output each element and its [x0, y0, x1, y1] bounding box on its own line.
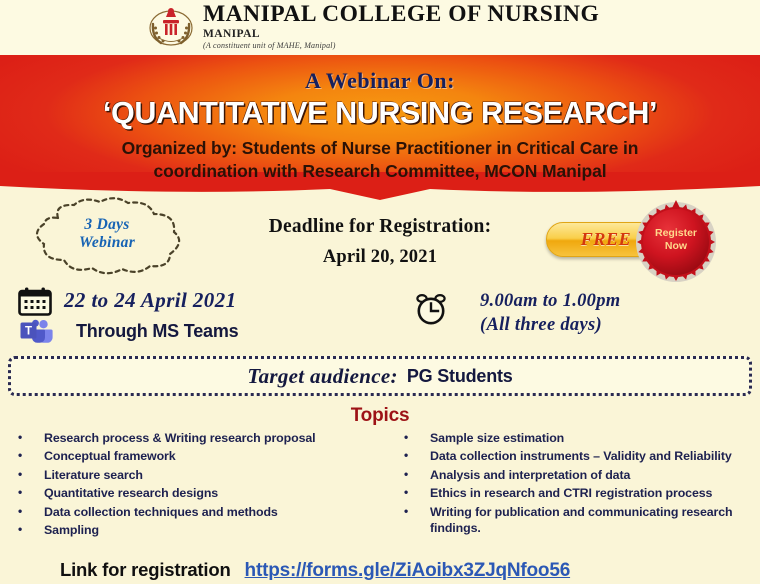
topics-column-left: • Research process & Writing research pr…	[0, 430, 392, 540]
registration-link-label: Link for registration	[60, 559, 231, 581]
registration-link-row: Link for registration https://forms.gle/…	[60, 559, 570, 582]
svg-text:T: T	[25, 325, 32, 337]
topic-label: Quantitative research designs	[44, 485, 392, 501]
webinar-title: ‘QUANTITATIVE NURSING RESEARCH’	[0, 96, 760, 131]
bullet-icon: •	[18, 467, 44, 483]
organized-by-line-2: coordination with Research Committee, MC…	[0, 160, 760, 183]
bullet-icon: •	[404, 448, 430, 464]
deadline-block: Deadline for Registration: April 20, 202…	[230, 216, 530, 268]
list-item: • Literature search	[18, 467, 392, 483]
list-item: • Quantitative research designs	[18, 485, 392, 501]
topics-heading: Topics	[0, 405, 760, 427]
poster-header: MANIPAL COLLEGE OF NURSING MANIPAL (A co…	[0, 0, 760, 55]
ms-teams-icon: T	[20, 319, 53, 343]
topic-label: Data collection instruments – Validity a…	[430, 448, 760, 464]
banner-eyebrow: A Webinar On:	[0, 68, 760, 94]
target-audience-label: Target audience:	[247, 364, 397, 389]
topic-label: Analysis and interpretation of data	[430, 467, 760, 483]
mcon-crest-logo-icon	[148, 4, 194, 48]
college-affiliation: (A constituent unit of MAHE, Manipal)	[203, 41, 599, 50]
webinar-time: 9.00am to 1.00pm (All three days)	[480, 289, 620, 337]
organized-by-line-1: Organized by: Students of Nurse Practiti…	[0, 137, 760, 160]
topic-label: Writing for publication and communicatin…	[430, 504, 760, 537]
webinar-time-note: (All three days)	[480, 313, 620, 337]
webinar-time-range: 9.00am to 1.00pm	[480, 289, 620, 313]
college-name: MANIPAL COLLEGE OF NURSING	[203, 3, 599, 27]
topic-label: Ethics in research and CTRI registration…	[430, 485, 760, 501]
list-item: • Data collection techniques and methods	[18, 504, 392, 520]
list-item: • Conceptual framework	[18, 448, 392, 464]
title-banner: A Webinar On: ‘QUANTITATIVE NURSING RESE…	[0, 55, 760, 200]
cloud-badge-text: 3 Days Webinar	[18, 216, 196, 253]
bullet-icon: •	[404, 504, 430, 520]
list-item: • Sample size estimation	[404, 430, 760, 446]
cloud-line-2: Webinar	[18, 234, 196, 252]
webinar-poster: MANIPAL COLLEGE OF NURSING MANIPAL (A co…	[0, 0, 760, 584]
topic-label: Research process & Writing research prop…	[44, 430, 392, 446]
webinar-dates: 22 to 24 April 2021	[64, 288, 237, 313]
banner-content: A Webinar On: ‘QUANTITATIVE NURSING RESE…	[0, 55, 760, 183]
bullet-icon: •	[18, 430, 44, 446]
list-item: • Writing for publication and communicat…	[404, 504, 760, 537]
bullet-icon: •	[18, 504, 44, 520]
topic-label: Sample size estimation	[430, 430, 760, 446]
topic-label: Conceptual framework	[44, 448, 392, 464]
list-item: • Analysis and interpretation of data	[404, 467, 760, 483]
calendar-icon	[18, 287, 52, 316]
deadline-label: Deadline for Registration:	[230, 216, 530, 238]
webinar-platform: Through MS Teams	[76, 321, 238, 342]
bullet-icon: •	[404, 430, 430, 446]
institution-block: MANIPAL COLLEGE OF NURSING MANIPAL (A co…	[203, 3, 599, 50]
topics-column-right: • Sample size estimation • Data collecti…	[392, 430, 760, 540]
deadline-date: April 20, 2021	[230, 247, 530, 268]
list-item: • Ethics in research and CTRI registrati…	[404, 485, 760, 501]
target-audience-value: PG Students	[407, 366, 513, 387]
list-item: • Research process & Writing research pr…	[18, 430, 392, 446]
bullet-icon: •	[404, 485, 430, 501]
free-badge-label: FREE	[581, 229, 631, 250]
bullet-icon: •	[18, 522, 44, 538]
register-now-badge[interactable]	[634, 200, 718, 284]
topics-columns: • Research process & Writing research pr…	[0, 430, 760, 540]
college-city: MANIPAL	[203, 28, 599, 40]
registration-link-url[interactable]: https://forms.gle/ZiAoibx3ZJqNfoo56	[245, 560, 571, 582]
target-audience-box: Target audience: PG Students	[8, 356, 752, 396]
bullet-icon: •	[18, 448, 44, 464]
bullet-icon: •	[18, 485, 44, 501]
list-item: • Data collection instruments – Validity…	[404, 448, 760, 464]
bullet-icon: •	[404, 467, 430, 483]
topic-label: Literature search	[44, 467, 392, 483]
cloud-line-1: 3 Days	[18, 216, 196, 234]
topic-label: Data collection techniques and methods	[44, 504, 392, 520]
list-item: • Sampling	[18, 522, 392, 538]
three-days-webinar-cloud: 3 Days Webinar	[18, 196, 196, 278]
alarm-clock-icon	[414, 293, 448, 325]
topic-label: Sampling	[44, 522, 392, 538]
